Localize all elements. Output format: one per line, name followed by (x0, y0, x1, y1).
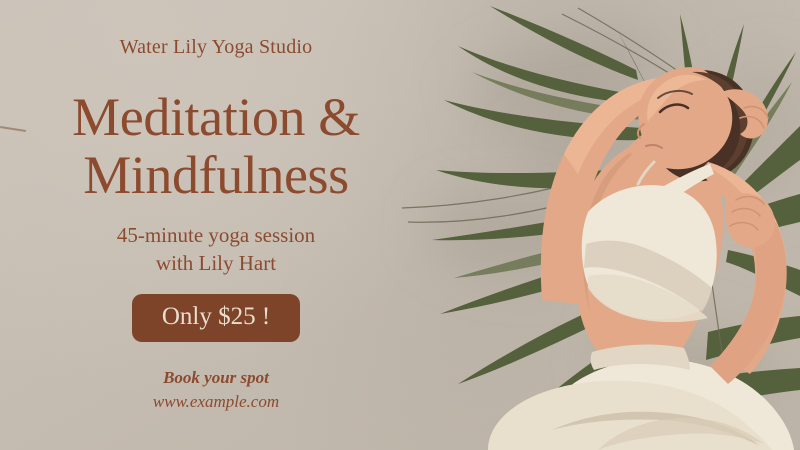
page-title: Meditation & Mindfulness (0, 88, 432, 205)
subtitle-line-2: with Lily Hart (0, 250, 432, 278)
subtitle-line-1: 45-minute yoga session (0, 222, 432, 250)
yoga-illustration (392, 0, 800, 450)
book-your-spot-text: Book your spot (0, 368, 432, 388)
session-subtitle: 45-minute yoga session with Lily Hart (0, 222, 432, 278)
cta-container: Only $25 ! (0, 294, 432, 342)
text-content-column: Water Lily Yoga Studio Meditation & Mind… (0, 0, 432, 450)
foot-and-hand (726, 193, 775, 247)
headline-line-2: Mindfulness (0, 146, 432, 204)
yoga-promo-banner: Water Lily Yoga Studio Meditation & Mind… (0, 0, 800, 450)
studio-name: Water Lily Yoga Studio (0, 36, 432, 59)
headline-line-1: Meditation & (0, 88, 432, 146)
price-cta-button[interactable]: Only $25 ! (132, 294, 300, 342)
website-url[interactable]: www.example.com (0, 392, 432, 412)
